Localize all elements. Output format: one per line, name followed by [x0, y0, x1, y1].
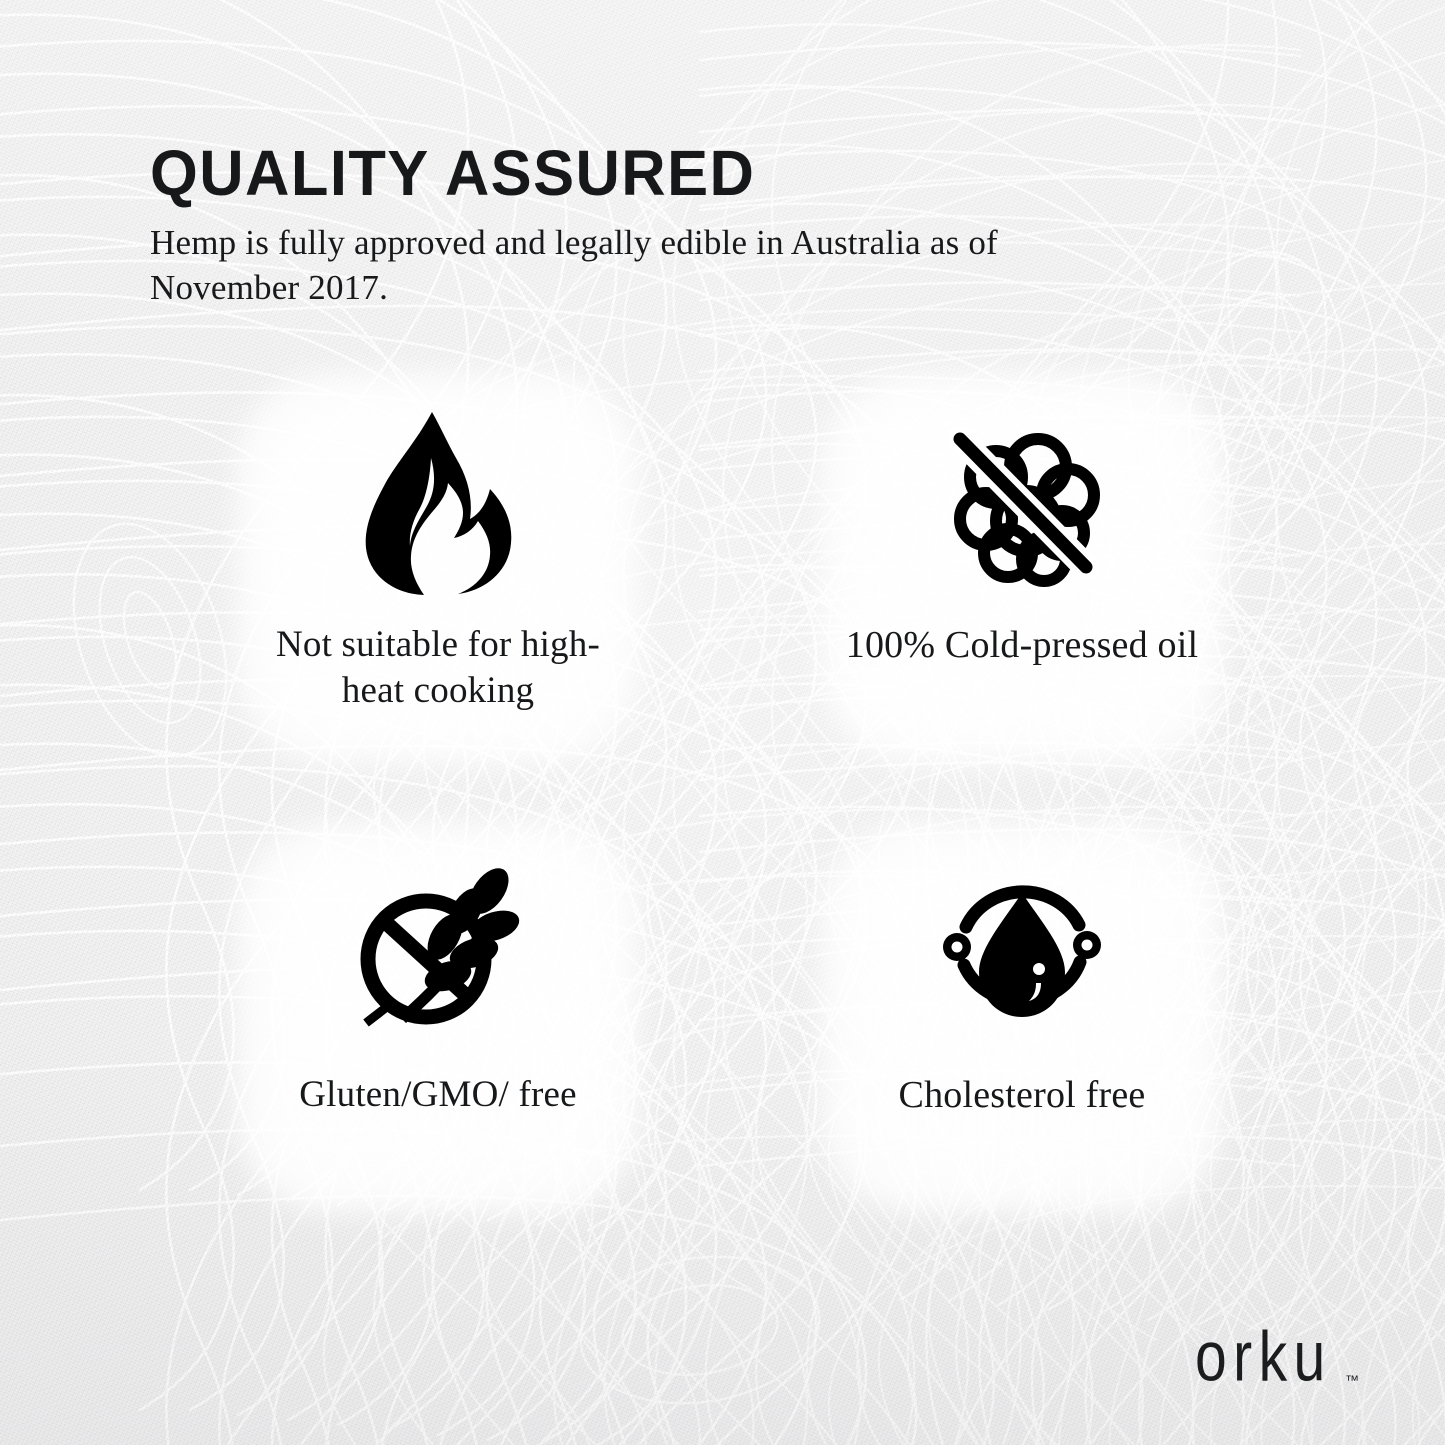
flame-icon: [363, 410, 513, 596]
feature-card-gluten-gmo-free: Gluten/GMO/ free: [232, 818, 644, 1218]
trademark-symbol: ™: [1345, 1373, 1359, 1387]
feature-card-label: 100% Cold-pressed oil: [846, 622, 1199, 668]
cholesterol-droplet-icon: [929, 860, 1115, 1046]
page-subtitle: Hemp is fully approved and legally edibl…: [150, 220, 1080, 310]
feature-card-grid: Not suitable for high-heat cooking: [232, 368, 1222, 1218]
no-heat-cluster-icon: [934, 410, 1110, 596]
feature-card-label: Not suitable for high-heat cooking: [253, 622, 623, 714]
feature-card-label: Cholesterol free: [899, 1072, 1146, 1118]
feature-card-high-heat: Not suitable for high-heat cooking: [232, 368, 644, 768]
infographic-panel: QUALITY ASSURED Hemp is fully approved a…: [0, 0, 1445, 1445]
feature-card-cold-pressed: 100% Cold-pressed oil: [816, 368, 1228, 768]
feature-card-cholesterol-free: Cholesterol free: [816, 818, 1228, 1218]
no-gluten-wheat-icon: [348, 860, 528, 1046]
brand-wordmark: orku: [1195, 1322, 1332, 1393]
page-title: QUALITY ASSURED: [150, 140, 1110, 206]
brand-logo: orku ™: [1195, 1331, 1359, 1393]
header-block: QUALITY ASSURED Hemp is fully approved a…: [150, 140, 1150, 310]
feature-card-label: Gluten/GMO/ free: [299, 1072, 577, 1118]
